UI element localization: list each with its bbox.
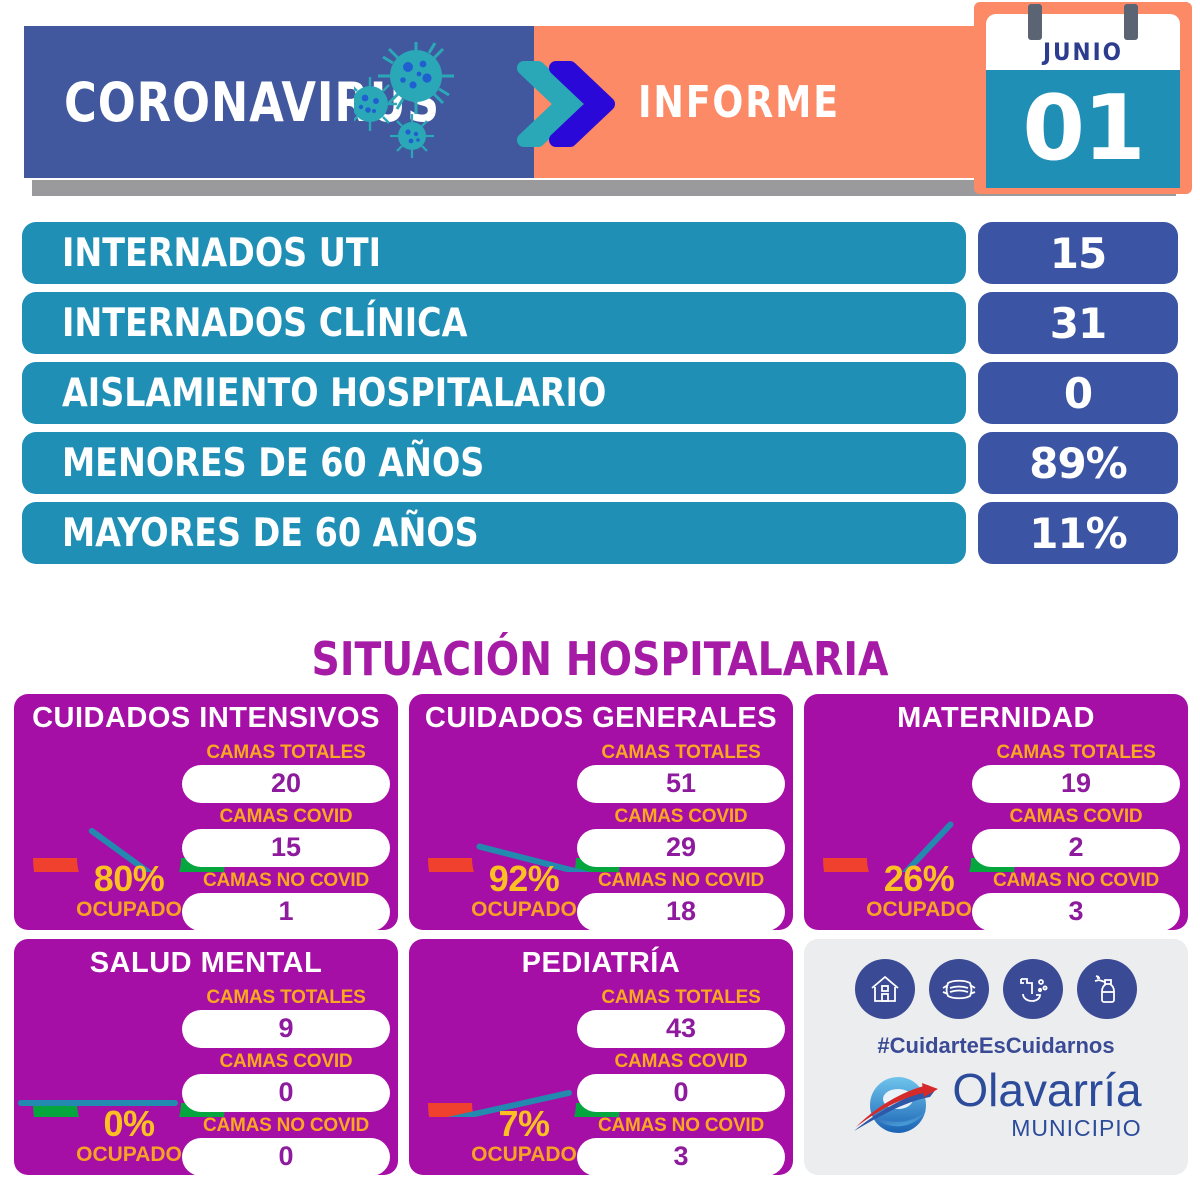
- beds-total-pill: 43: [577, 1010, 785, 1048]
- calendar-month: JUNIO: [1043, 38, 1123, 70]
- beds-total-value: 43: [666, 1013, 696, 1044]
- stat-value-text: 11%: [1029, 509, 1127, 558]
- beds-covid-pill: 0: [577, 1074, 785, 1112]
- stat-label-pill: MENORES DE 60 AÑOS: [22, 432, 966, 494]
- beds-noncovid-value: 1: [278, 896, 293, 927]
- chevron-right-icon: [516, 60, 626, 148]
- beds-covid-value: 29: [666, 832, 696, 863]
- beds-total-value: 9: [278, 1013, 293, 1044]
- beds-block: CAMAS TOTALES 51 CAMAS COVID 29 CAMAS NO…: [577, 742, 785, 930]
- beds-covid-label: CAMAS COVID: [577, 1051, 785, 1073]
- beds-covid-pill: 0: [182, 1074, 390, 1112]
- beds-covid-value: 2: [1068, 832, 1083, 863]
- beds-total-label: CAMAS TOTALES: [577, 987, 785, 1009]
- brand-name: Olavarría: [952, 1067, 1141, 1113]
- stat-row: AISLAMIENTO HOSPITALARIO 0: [22, 362, 1178, 424]
- beds-noncovid-pill: 3: [577, 1138, 785, 1175]
- beds-total-pill: 19: [972, 765, 1180, 803]
- header-subtitle: INFORME: [638, 77, 840, 128]
- stat-label-text: MENORES DE 60 AÑOS: [62, 441, 484, 486]
- calendar-day: 01: [1022, 86, 1143, 172]
- hospital-card: CUIDADOS GENERALES 92% OCUPADO CAMAS TOT…: [409, 694, 793, 930]
- card-title: MATERNIDAD: [804, 702, 1188, 735]
- beds-covid-value: 0: [278, 1077, 293, 1108]
- hospital-card: MATERNIDAD 26% OCUPADO CAMAS TOTALES 19 …: [804, 694, 1188, 930]
- virus-graphic: [354, 42, 534, 162]
- stat-row: MENORES DE 60 AÑOS 89%: [22, 432, 1178, 494]
- card-row-top: CUIDADOS INTENSIVOS 80% OCUPADO CAMAS TO…: [14, 694, 1190, 930]
- card-title: CUIDADOS INTENSIVOS: [14, 702, 398, 735]
- beds-noncovid-label: CAMAS NO COVID: [182, 870, 390, 892]
- beds-noncovid-pill: 0: [182, 1138, 390, 1175]
- beds-noncovid-value: 0: [278, 1141, 293, 1172]
- beds-block: CAMAS TOTALES 43 CAMAS COVID 0 CAMAS NO …: [577, 987, 785, 1175]
- beds-total-value: 51: [666, 768, 696, 799]
- stat-value-pill: 0: [978, 362, 1178, 424]
- calendar-ring-left-icon: [1028, 4, 1042, 40]
- calendar-ring-right-icon: [1124, 4, 1138, 40]
- beds-noncovid-value: 3: [673, 1141, 688, 1172]
- olavarria-mark-icon: [850, 1069, 946, 1141]
- beds-block: CAMAS TOTALES 20 CAMAS COVID 15 CAMAS NO…: [182, 742, 390, 930]
- stat-value-pill: 31: [978, 292, 1178, 354]
- beds-total-label: CAMAS TOTALES: [182, 987, 390, 1009]
- stats-list: INTERNADOS UTI 15 INTERNADOS CLÍNICA 31 …: [22, 222, 1178, 572]
- stat-value-pill: 89%: [978, 432, 1178, 494]
- stat-value-text: 0: [1064, 369, 1092, 418]
- stat-row: INTERNADOS CLÍNICA 31: [22, 292, 1178, 354]
- beds-covid-label: CAMAS COVID: [182, 806, 390, 828]
- face-mask-icon: [929, 959, 989, 1019]
- beds-total-value: 19: [1061, 768, 1091, 799]
- beds-covid-pill: 29: [577, 829, 785, 867]
- section-title: SITUACIÓN HOSPITALARIA: [30, 632, 1170, 686]
- beds-total-pill: 51: [577, 765, 785, 803]
- header-left-panel: CORONAVIRUS: [24, 26, 534, 178]
- beds-block: CAMAS TOTALES 9 CAMAS COVID 0 CAMAS NO C…: [182, 987, 390, 1175]
- beds-noncovid-label: CAMAS NO COVID: [577, 870, 785, 892]
- beds-total-pill: 9: [182, 1010, 390, 1048]
- hospital-card: CUIDADOS INTENSIVOS 80% OCUPADO CAMAS TO…: [14, 694, 398, 930]
- beds-noncovid-pill: 3: [972, 893, 1180, 930]
- beds-block: CAMAS TOTALES 19 CAMAS COVID 2 CAMAS NO …: [972, 742, 1180, 930]
- beds-covid-pill: 15: [182, 829, 390, 867]
- beds-total-value: 20: [271, 768, 301, 799]
- beds-total-label: CAMAS TOTALES: [182, 742, 390, 764]
- card-row-bottom: SALUD MENTAL 0% OCUPADO CAMAS TOTALES 9 …: [14, 939, 1190, 1175]
- stat-label-pill: MAYORES DE 60 AÑOS: [22, 502, 966, 564]
- handwash-icon: [1003, 959, 1063, 1019]
- stat-value-text: 15: [1050, 229, 1106, 278]
- beds-noncovid-label: CAMAS NO COVID: [577, 1115, 785, 1137]
- beds-noncovid-value: 18: [666, 896, 696, 927]
- beds-noncovid-pill: 1: [182, 893, 390, 930]
- beds-total-pill: 20: [182, 765, 390, 803]
- card-title: CUIDADOS GENERALES: [409, 702, 793, 735]
- olavarria-logo: Olavarría MUNICIPIO: [804, 1067, 1188, 1142]
- beds-noncovid-label: CAMAS NO COVID: [182, 1115, 390, 1137]
- stat-label-pill: AISLAMIENTO HOSPITALARIO: [22, 362, 966, 424]
- olavarria-wordmark: Olavarría MUNICIPIO: [952, 1067, 1141, 1142]
- beds-covid-value: 0: [673, 1077, 688, 1108]
- calendar-month-band: JUNIO: [986, 14, 1180, 70]
- prevention-logo-panel: #CuidarteEsCuidarnos: [804, 939, 1188, 1175]
- calendar-widget: JUNIO 01: [974, 2, 1192, 194]
- hospital-card: SALUD MENTAL 0% OCUPADO CAMAS TOTALES 9 …: [14, 939, 398, 1175]
- stat-label-text: INTERNADOS CLÍNICA: [62, 301, 467, 346]
- stat-value-pill: 15: [978, 222, 1178, 284]
- card-title: PEDIATRÍA: [409, 947, 793, 980]
- hospital-cards: CUIDADOS INTENSIVOS 80% OCUPADO CAMAS TO…: [14, 694, 1190, 1184]
- infographic-page: CORONAVIRUS: [0, 0, 1200, 1200]
- stat-label-text: INTERNADOS UTI: [62, 231, 381, 276]
- beds-total-label: CAMAS TOTALES: [577, 742, 785, 764]
- beds-noncovid-pill: 18: [577, 893, 785, 930]
- house-icon: [855, 959, 915, 1019]
- stat-value-text: 31: [1050, 299, 1106, 348]
- beds-total-label: CAMAS TOTALES: [972, 742, 1180, 764]
- beds-covid-label: CAMAS COVID: [577, 806, 785, 828]
- brand-subtitle: MUNICIPIO: [952, 1115, 1141, 1142]
- beds-covid-value: 15: [271, 832, 301, 863]
- spray-bottle-icon: [1077, 959, 1137, 1019]
- hospital-card: PEDIATRÍA 7% OCUPADO CAMAS TOTALES 43 CA…: [409, 939, 793, 1175]
- card-title: SALUD MENTAL: [14, 947, 398, 980]
- stat-label-text: MAYORES DE 60 AÑOS: [62, 511, 479, 556]
- calendar-day-band: 01: [986, 70, 1180, 188]
- stat-value-text: 89%: [1029, 439, 1127, 488]
- beds-covid-pill: 2: [972, 829, 1180, 867]
- hashtag-text: #CuidarteEsCuidarnos: [804, 1033, 1188, 1059]
- stat-label-pill: INTERNADOS CLÍNICA: [22, 292, 966, 354]
- prevention-icons: [804, 959, 1188, 1019]
- beds-noncovid-label: CAMAS NO COVID: [972, 870, 1180, 892]
- beds-covid-label: CAMAS COVID: [972, 806, 1180, 828]
- stat-label-text: AISLAMIENTO HOSPITALARIO: [62, 371, 606, 416]
- beds-covid-label: CAMAS COVID: [182, 1051, 390, 1073]
- stat-label-pill: INTERNADOS UTI: [22, 222, 966, 284]
- stat-value-pill: 11%: [978, 502, 1178, 564]
- beds-noncovid-value: 3: [1068, 896, 1083, 927]
- stat-row: MAYORES DE 60 AÑOS 11%: [22, 502, 1178, 564]
- stat-row: INTERNADOS UTI 15: [22, 222, 1178, 284]
